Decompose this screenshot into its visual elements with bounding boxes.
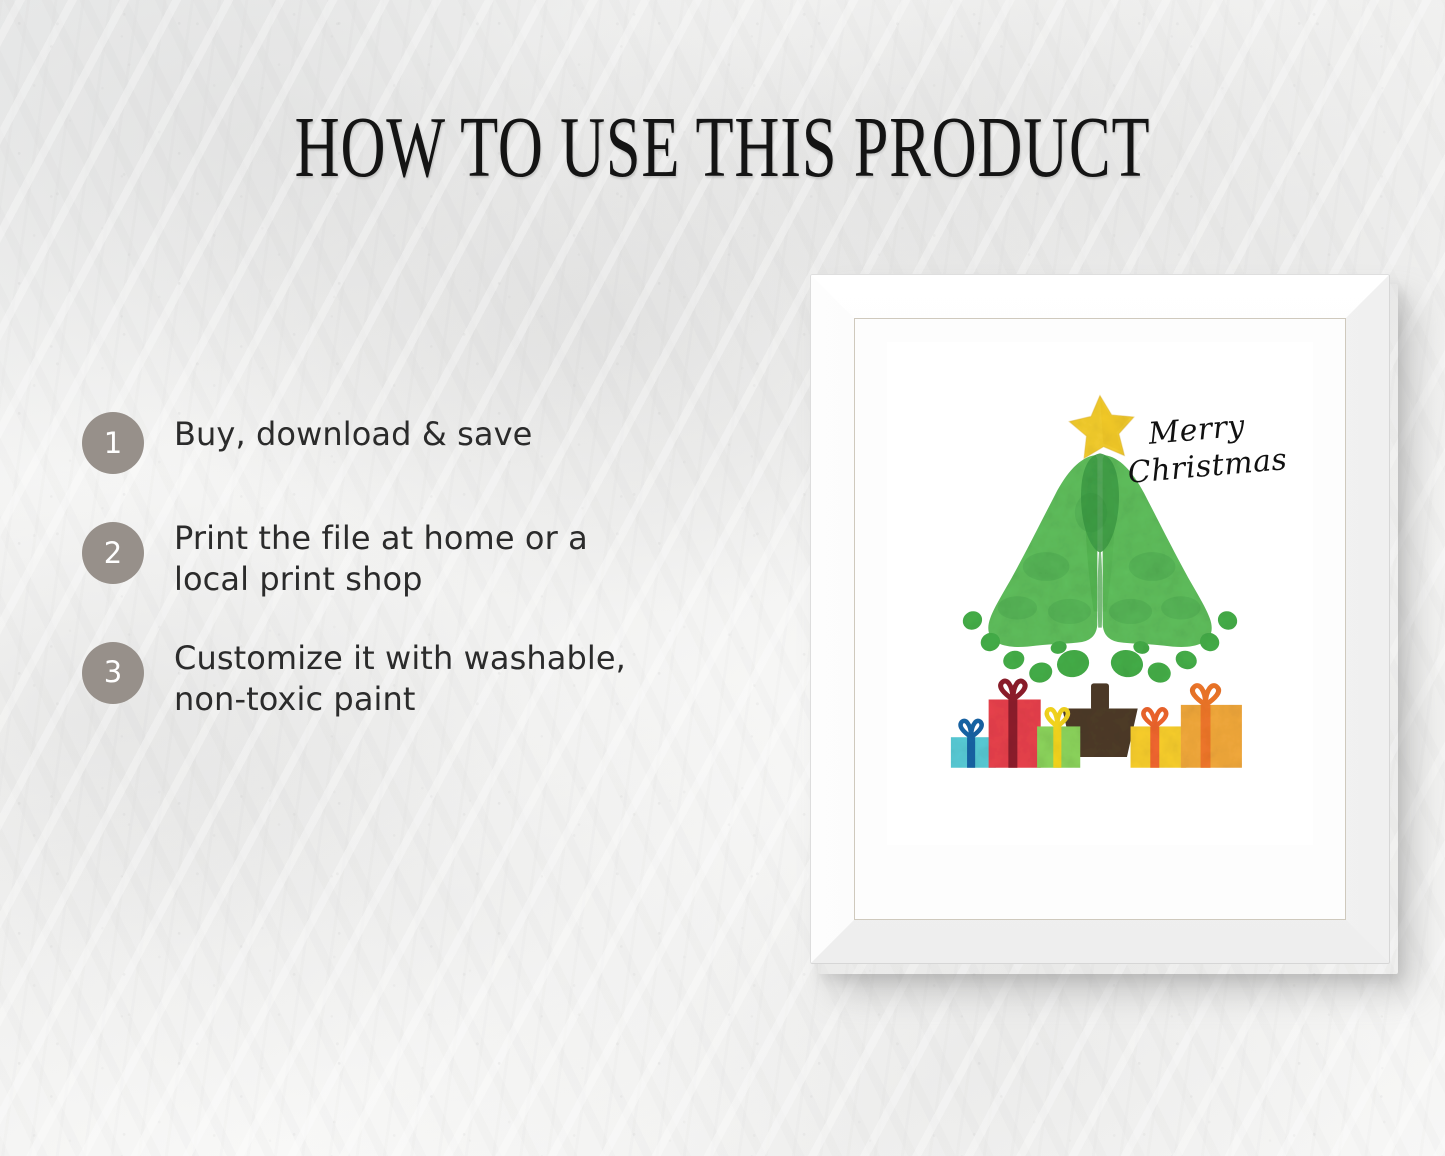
step-number-label: 1 <box>104 429 122 458</box>
list-item: 2 Print the file at home or alocal print… <box>82 518 802 600</box>
print-artwork: Merry Christmas <box>887 342 1313 845</box>
step-number-label: 2 <box>104 539 122 568</box>
framed-artwork: Merry Christmas <box>810 274 1390 964</box>
gift-red <box>989 681 1041 768</box>
step-description: Buy, download & save <box>174 408 532 455</box>
gift-orange <box>1181 686 1242 768</box>
merry-christmas-greeting: Merry Christmas <box>1122 403 1288 494</box>
frame-mat: Merry Christmas <box>854 318 1346 920</box>
gift-yellow <box>1131 709 1187 767</box>
step-number-badge: 3 <box>82 642 144 704</box>
list-item: 1 Buy, download & save <box>82 408 802 474</box>
list-item: 3 Customize it with washable,non-toxic p… <box>82 638 802 720</box>
how-to-steps-list: 1 Buy, download & save 2 Print the file … <box>82 408 802 764</box>
step-description: Print the file at home or alocal print s… <box>174 518 588 600</box>
step-number-badge: 1 <box>82 412 144 474</box>
picture-frame: Merry Christmas <box>810 274 1390 964</box>
step-number-label: 3 <box>104 658 122 687</box>
step-number-badge: 2 <box>82 522 144 584</box>
step-description: Customize it with washable,non-toxic pai… <box>174 638 626 720</box>
page-title: HOW TO USE THIS PRODUCT <box>130 104 1315 191</box>
